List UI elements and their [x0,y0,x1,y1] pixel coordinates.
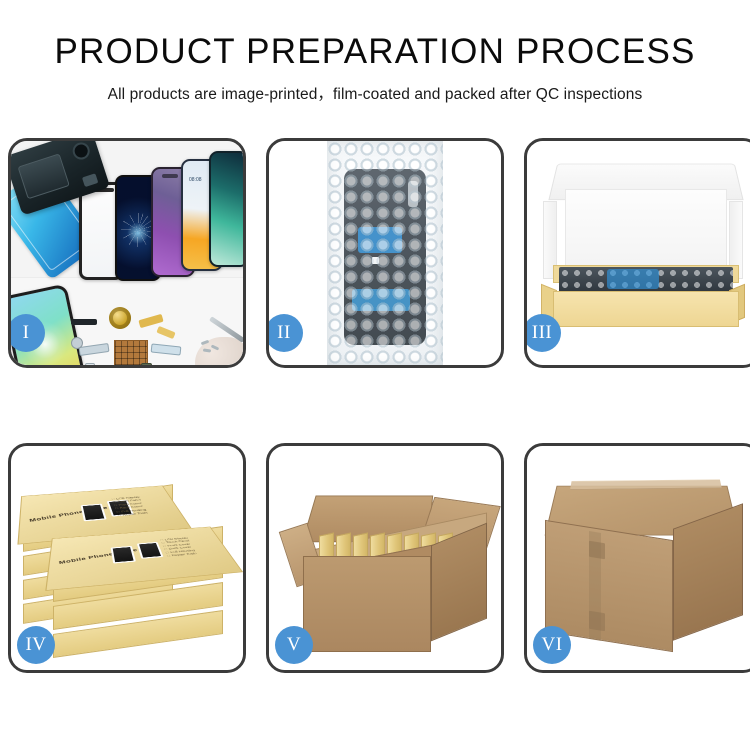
foam-lining-icon [565,189,727,275]
speaker-part-icon [71,319,97,325]
wrapped-parts-in-box-icon [559,267,733,293]
phone-teal-icon [209,151,243,267]
sealed-shipping-carton [545,472,749,658]
process-step-3[interactable]: III [524,138,750,368]
screws-icon [201,341,227,353]
step-badge-2: II [266,314,303,352]
step-badge-6: VI [533,626,571,664]
step-badge-1: I [8,314,45,352]
carton-tab-icon [589,541,605,560]
packing-tape-icon [570,479,722,489]
step-badge-4: IV [17,626,55,664]
process-step-1[interactable]: 08:08 [8,138,246,368]
process-step-2[interactable]: II [266,138,504,368]
step-badge-5: V [275,626,313,664]
chip-icon [82,173,98,187]
small-part-icon [85,363,95,365]
process-step-grid: 08:08 [8,138,742,673]
small-part-icon [71,337,83,349]
small-part-icon [141,363,152,365]
box-stack: Mobile Phone Spare Parts LCD Display Tou… [19,462,241,662]
coil-part-icon [109,307,131,329]
kraft-box-lid: Mobile Phone Spare Parts LCD Display Tou… [45,527,243,591]
box-label-checklist: LCD Display Touch Panel Front Cover Back… [160,535,219,558]
box-label-checklist: LCD Display Touch Panel Front Cover Back… [111,494,170,517]
copper-grid-chip-icon [114,340,148,365]
page-subtitle: All products are image-printed，film-coat… [0,82,750,104]
process-step-5[interactable]: V [266,443,504,673]
step-badge-3: III [524,314,561,352]
phone-clock-osd: 08:08 [189,177,202,184]
blue-film-marker [607,269,659,289]
carton-front-face-icon [303,556,431,652]
bubble-wrap-overlay-icon [327,141,443,365]
process-step-4[interactable]: Mobile Phone Spare Parts LCD Display Tou… [8,443,246,673]
phone-parts-photo: 08:08 [11,141,243,365]
phone-graphic-icon [137,542,164,559]
process-step-6[interactable]: VI [524,443,750,673]
carton-tab-icon [589,611,605,632]
carton-side-face-icon [673,503,743,640]
box-tray-front-icon [553,291,739,327]
header: PRODUCT PREPARATION PROCESS All products… [0,0,750,104]
bubble-wrap-photo [269,141,501,365]
phone-graphic-icon [81,504,107,522]
open-shipping-carton [285,470,491,654]
infographic-page: PRODUCT PREPARATION PROCESS All products… [0,0,750,750]
page-title: PRODUCT PREPARATION PROCESS [0,34,750,71]
battery-icon [18,153,70,199]
camera-module-icon [70,141,91,162]
phone-graphic-icon [111,546,136,564]
